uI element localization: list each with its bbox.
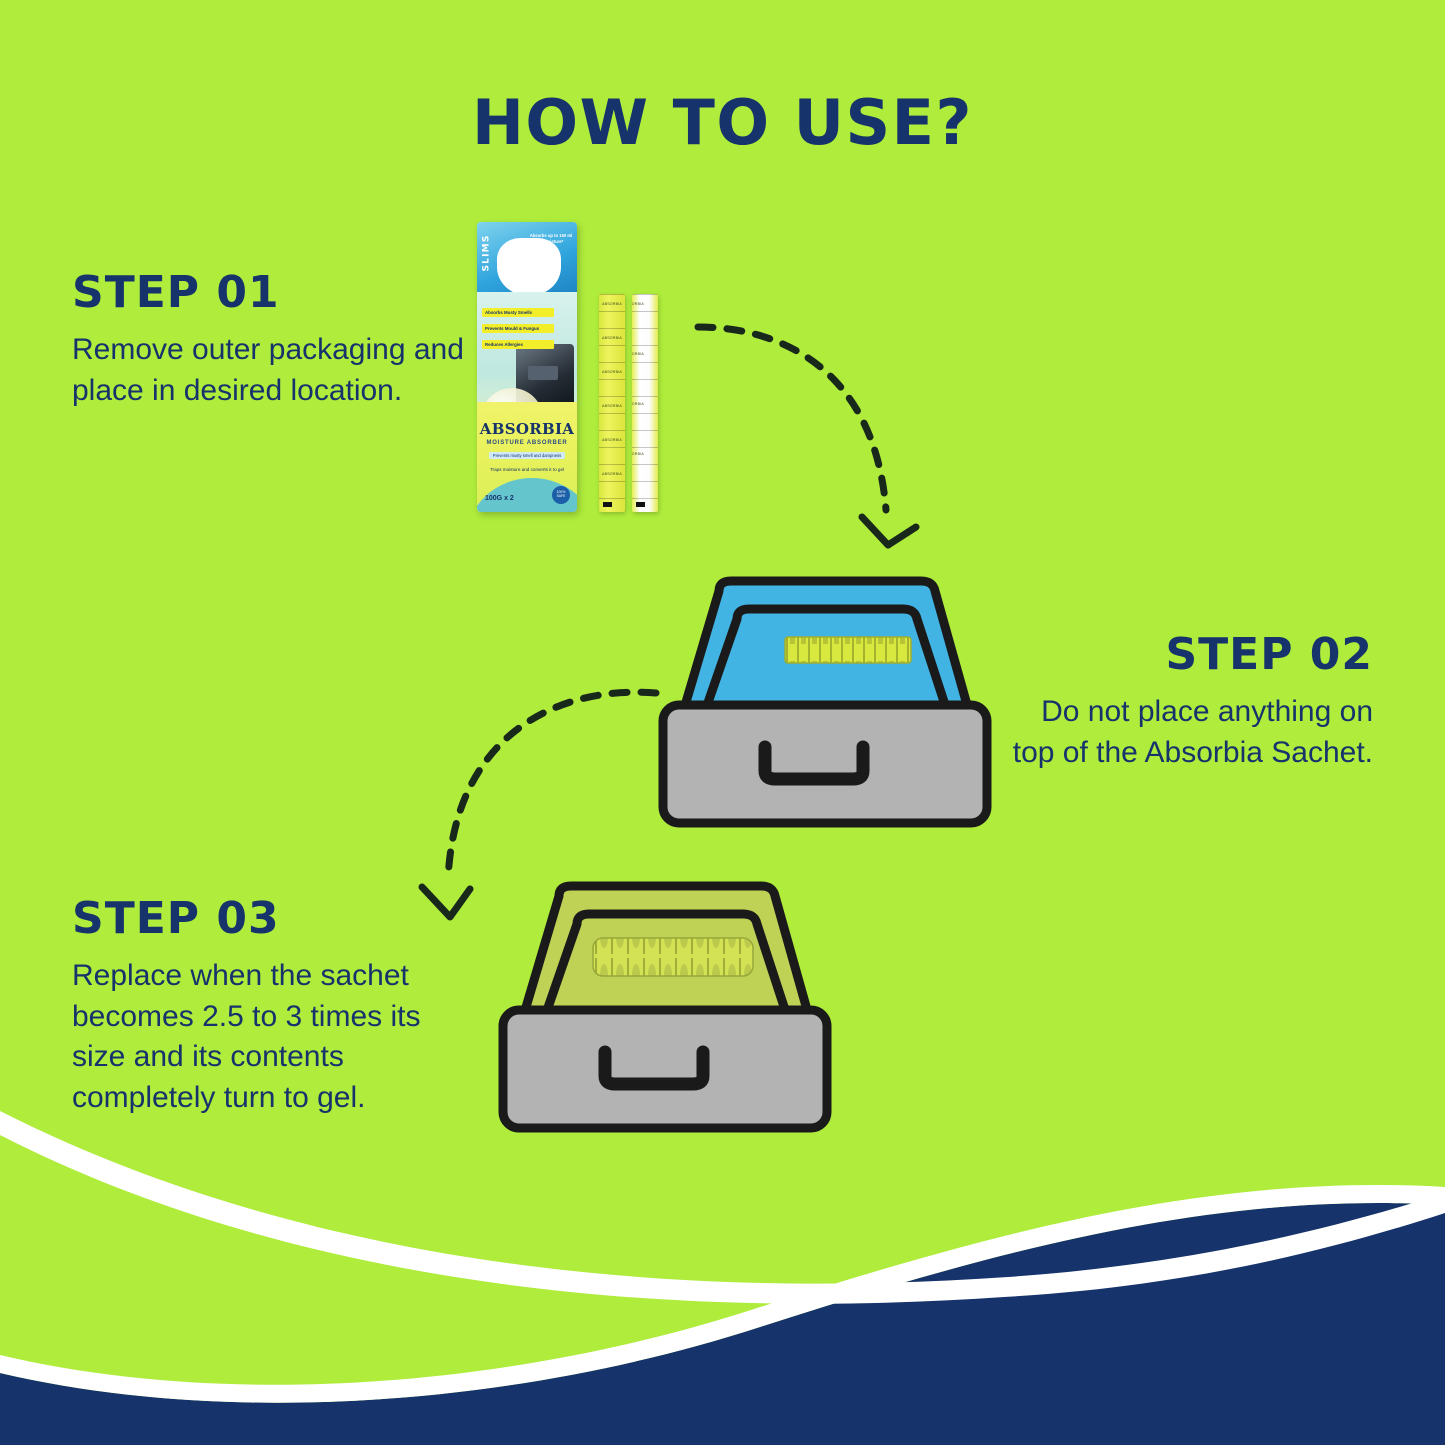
drawer-front-panel [663,705,987,823]
white-swoosh-upper [0,1111,1445,1304]
product-packaging-group: SLIMS Absorbs up to 150 ml of moisture* … [477,222,697,522]
step-03-heading: STEP 03 [72,896,472,942]
pack-slims-label: SLIMS [482,234,492,271]
sachet-stick-front: ABSORBIA ABSORBIA ABSORBIA ABSORBIA ABSO… [599,294,625,512]
sachet-in-drawer-flat [785,637,911,663]
navy-wave [0,1203,1445,1445]
white-swoosh-lower [0,1185,1445,1403]
pack-tagline: Prevents musty smell and dampness [489,452,565,459]
sachet-back-label-3: ABSORBIA [632,402,650,406]
pack-top-band: SLIMS Absorbs up to 150 ml of moisture* [477,222,577,300]
step-01-block: STEP 01 Remove outer packaging and place… [72,270,472,411]
step-01-body: Remove outer packaging and place in desi… [72,330,472,411]
sachet-label-6: ABSORBIA [599,472,625,476]
step-03-body: Replace when the sachet becomes 2.5 to 3… [72,956,472,1118]
infographic-canvas: HOW TO USE? STEP 01 Remove outer packagi… [0,0,1445,1445]
pack-top-white-shape [497,238,561,296]
pack-brand-name: ABSORBIA [477,420,577,438]
pack-capacity-badge: Absorbs up to 150 ml of moisture* [529,233,573,246]
sachet-back-label-2: ABSORBIA [632,352,650,356]
sachet-notch-2 [636,502,645,507]
sachet-label-4: ABSORBIA [599,404,625,408]
bottom-wave-decoration [0,1105,1445,1445]
sachet-in-drawer-swollen [593,938,753,976]
sachet-notch-1 [603,502,612,507]
page-title: HOW TO USE? [0,86,1445,159]
sachet-label-3: ABSORBIA [599,370,625,374]
pack-description: Traps moisture and converts it to gel [485,466,569,473]
pack-feature-badge-1: Absorbs Musty Smells [482,308,554,317]
absorbia-retail-pack: SLIMS Absorbs up to 150 ml of moisture* … [477,222,577,512]
pack-sub-brand: MOISTURE ABSORBER [477,440,577,446]
step-02-drawer-illustration [645,575,1005,830]
pack-feature-badge-3: Reduces Allergies [482,340,554,349]
pack-feature-badge-2: Prevents Mould & Fungus [482,324,554,333]
sachet-label-5: ABSORBIA [599,438,625,442]
pack-bottom-band: ABSORBIA MOISTURE ABSORBER Prevents must… [477,402,577,512]
sachet-back-label-1: ABSORBIA [632,302,650,306]
arrow-step-01-to-02-icon [690,295,940,570]
sachet-label-1: ABSORBIA [599,302,625,306]
step-02-block: STEP 02 Do not place anything on top of … [993,632,1373,773]
sachet-label-2: ABSORBIA [599,336,625,340]
sachet-stick-back: ABSORBIA ABSORBIA ABSORBIA ABSORBIA [632,294,658,512]
pack-safety-seal: 100% SAFE [552,486,570,504]
step-03-block: STEP 03 Replace when the sachet becomes … [72,896,472,1118]
step-02-body: Do not place anything on top of the Abso… [993,692,1373,773]
pack-net-weight: 100G x 2 [485,495,514,502]
step-02-heading: STEP 02 [993,632,1373,678]
step-01-heading: STEP 01 [72,270,472,316]
step-03-drawer-illustration [485,880,845,1135]
sachet-back-label-4: ABSORBIA [632,452,650,456]
drawer-front-panel [503,1010,827,1128]
